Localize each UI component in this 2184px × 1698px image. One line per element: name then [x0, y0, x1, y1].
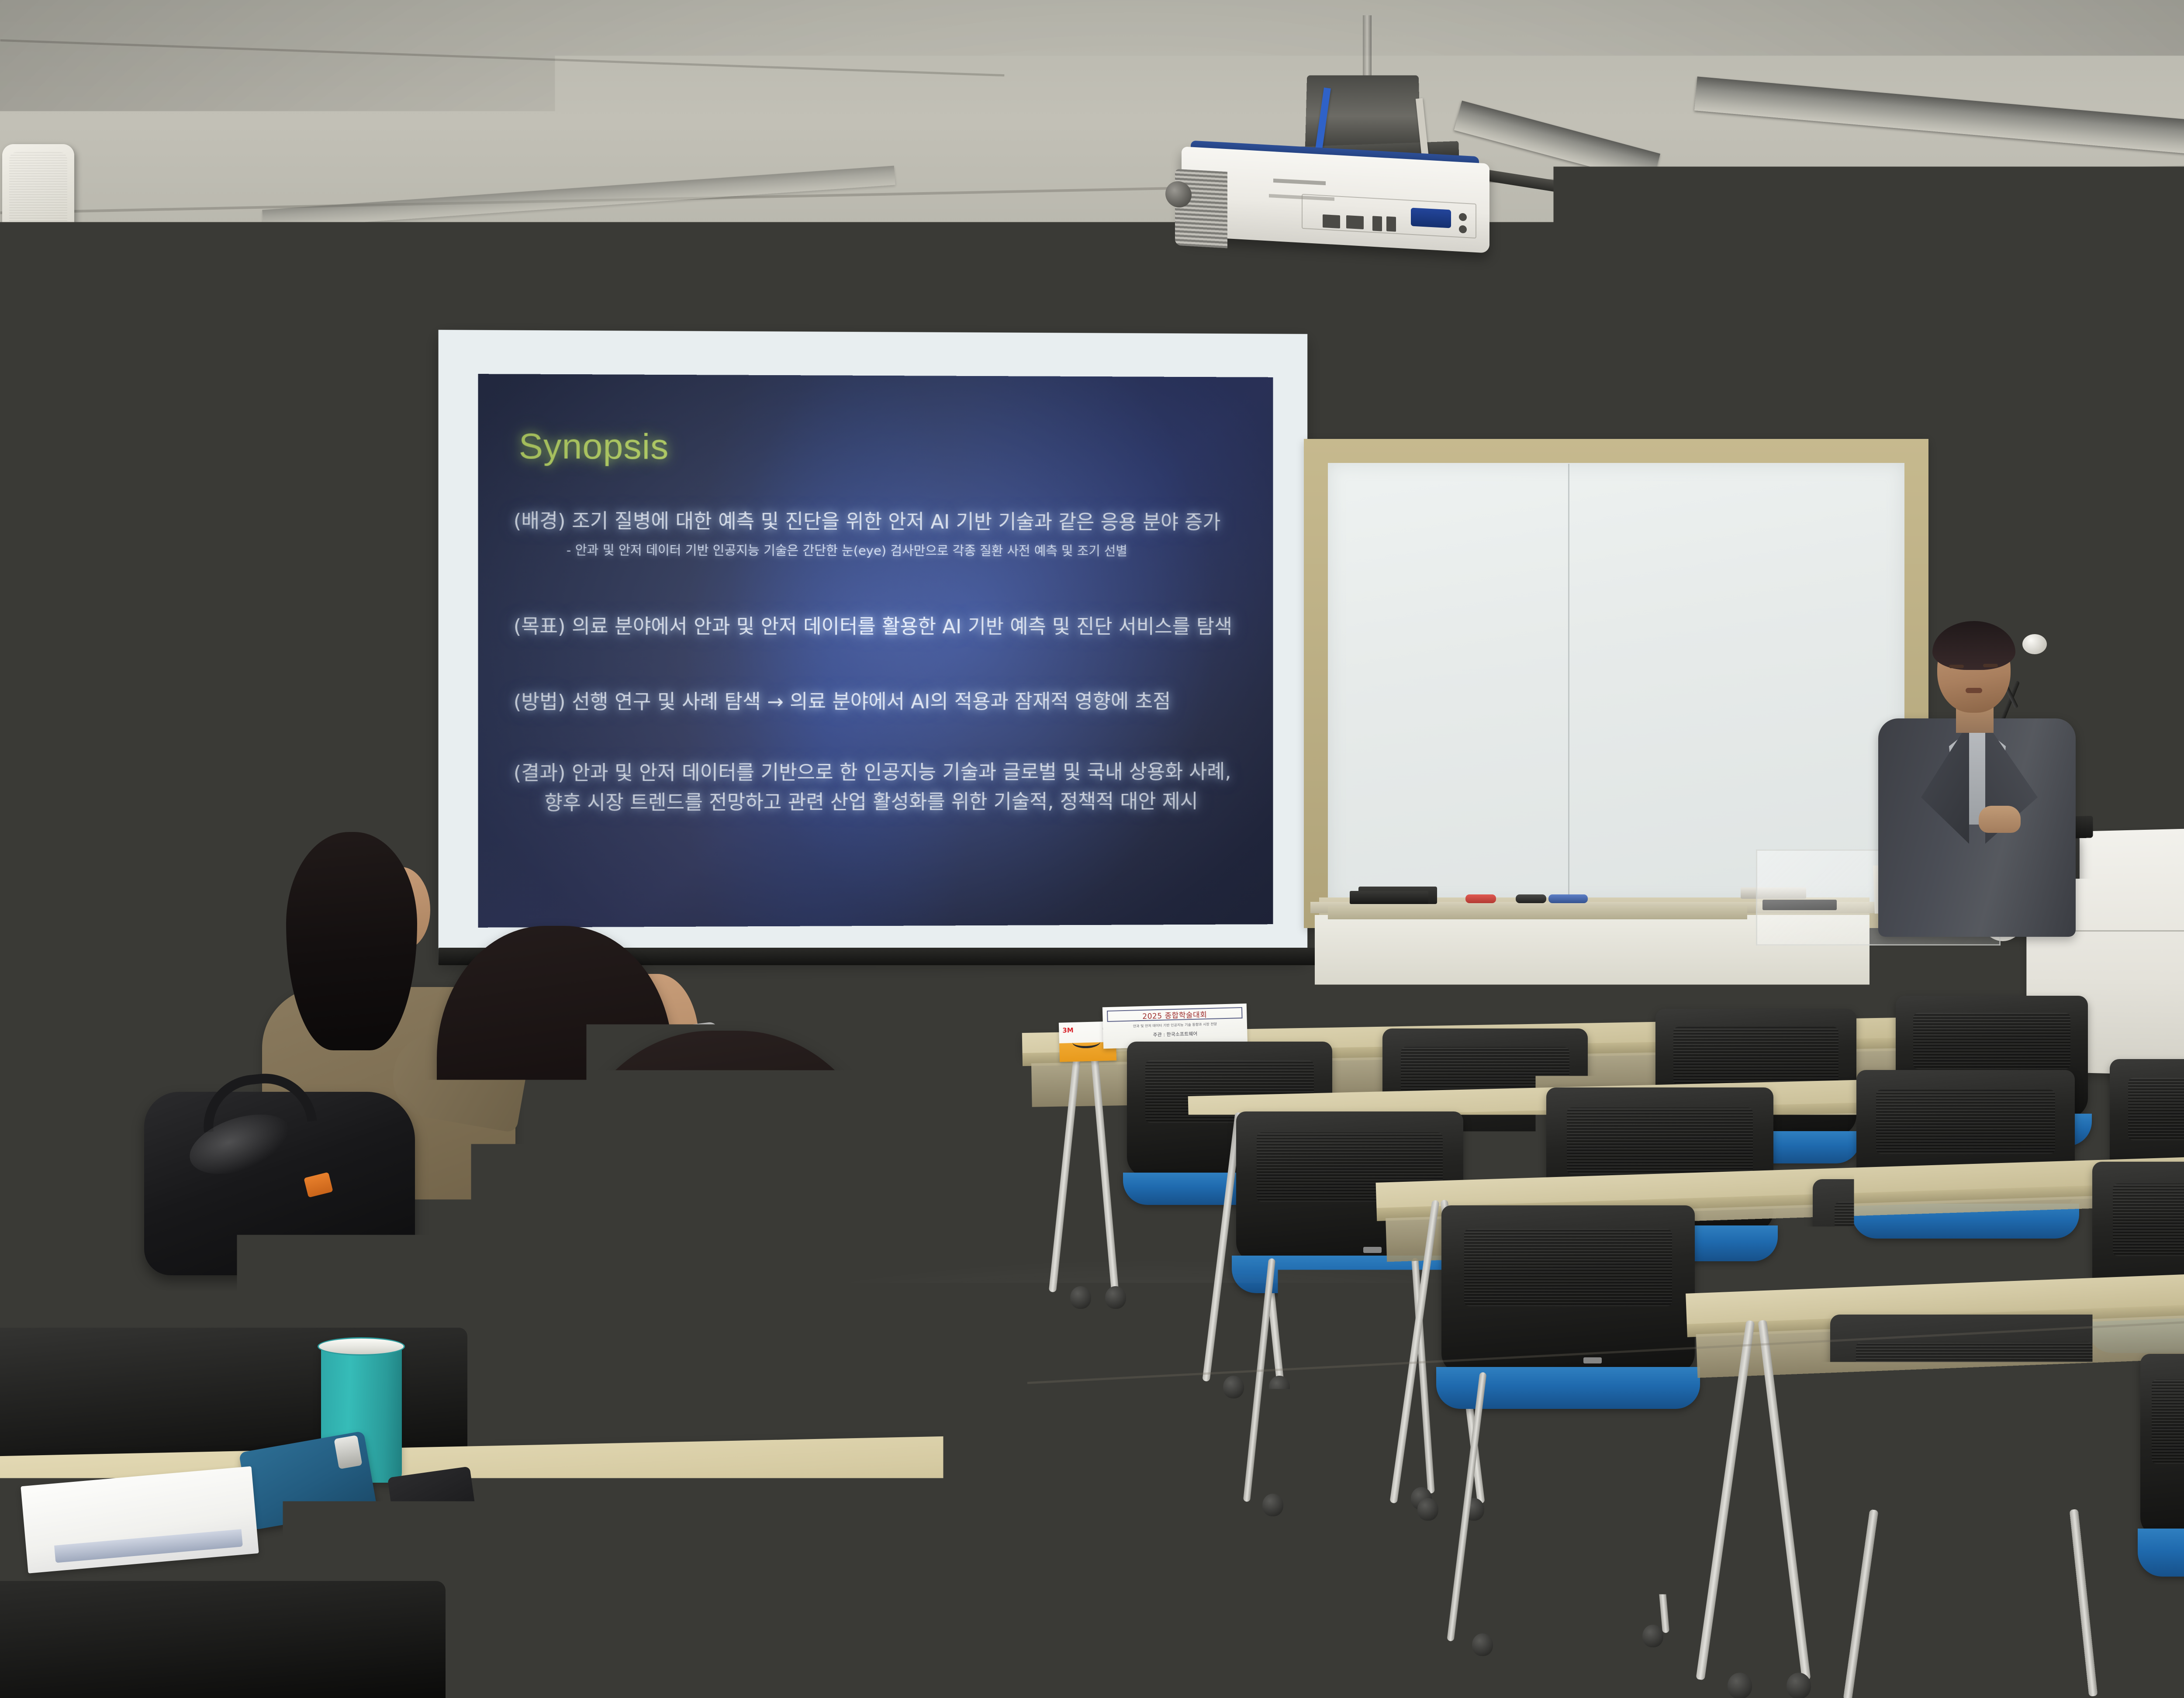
projector-audio-jack	[1459, 213, 1467, 221]
projected-slide: Synopsis (배경) 조기 질병에 대한 예측 및 진단을 위한 안저 A…	[478, 374, 1273, 928]
door-notice	[4, 744, 34, 797]
chair-brand-badge	[1363, 1247, 1382, 1253]
chair-mesh	[1876, 1090, 2055, 1154]
slide-bullet-result-line2: 향후 시장 트렌드를 전망하고 관련 산업 활성화를 위한 기술적, 정책적 대…	[544, 785, 1198, 815]
desk-sign-title: 2025 종합학술대회	[1107, 1007, 1243, 1022]
table-caster	[1787, 1673, 1811, 1698]
door-notice	[2, 925, 34, 983]
chair-mesh	[2128, 1078, 2184, 1140]
projector-vga-port	[1411, 208, 1451, 228]
wall-sensor	[262, 306, 280, 326]
projector-audio-jack	[1459, 225, 1467, 234]
foreground-chair-bottom[interactable]	[0, 1581, 446, 1698]
projector-usb-port	[1386, 216, 1396, 231]
blue-marker[interactable]	[1548, 894, 1588, 903]
presenter-eye-right	[1983, 664, 1998, 667]
slide-bullet-objective: (목표) 의료 분야에서 안과 및 안저 데이터를 활용한 AI 기반 예측 및…	[514, 610, 1232, 639]
black-marker[interactable]	[1516, 894, 1546, 903]
presenter-eye-left	[1949, 665, 1964, 668]
smartphone[interactable]	[387, 1466, 477, 1534]
chair-mesh	[1913, 1013, 2071, 1069]
door-hinge	[111, 666, 123, 709]
projector-vent	[1175, 169, 1227, 248]
chair[interactable]	[1830, 1315, 2118, 1511]
slide-bullet-method: (방법) 선행 연구 및 사례 탐색 → 의료 분야에서 AI의 적용과 잠재적…	[514, 686, 1171, 714]
paper-cup-rim	[318, 1337, 405, 1356]
chair-brand-badge	[1992, 1493, 2010, 1499]
chair-mesh	[2113, 1184, 2184, 1256]
microphone-head	[2022, 634, 2047, 654]
chair-seat	[2138, 1529, 2184, 1577]
speaker-brand-label	[28, 259, 54, 264]
ledge-remote[interactable]	[1350, 891, 1428, 904]
presenter-hand	[1979, 806, 2021, 833]
slide-bullet-result-line1: (결과) 안과 및 안저 데이터를 기반으로 한 인공지능 기술과 글로벌 및 …	[514, 756, 1231, 786]
ceiling	[0, 0, 2184, 306]
red-marker[interactable]	[1465, 894, 1496, 903]
speaker-grille	[9, 152, 67, 252]
chair-mesh	[2152, 1380, 2184, 1464]
slide-bullet-background: (배경) 조기 질병에 대한 예측 및 진단을 위한 안저 AI 기반 기술과 …	[514, 505, 1221, 535]
presenter-mouth	[1966, 688, 1982, 693]
slide-subbullet-background: - 안과 및 안저 데이터 기반 인공지능 기술은 간단한 눈(eye) 검사만…	[567, 540, 1127, 559]
brand-logo-3m: 3M	[1062, 1026, 1074, 1035]
lecture-room-scene: Synopsis (배경) 조기 질병에 대한 예측 및 진단을 위한 안저 A…	[0, 0, 2184, 1698]
desk-sign-organizer: 주관 : 한국소프트웨어	[1109, 1029, 1241, 1039]
chair-mesh	[1856, 1342, 2092, 1432]
slide-title: Synopsis	[519, 426, 669, 467]
equipment-ledge	[1328, 906, 1747, 919]
whiteboard-surface	[1328, 463, 1904, 904]
floor-reflection	[699, 1267, 1835, 1660]
chair-mesh	[1567, 1108, 1753, 1174]
chair-mesh	[1835, 1202, 2035, 1276]
smile-graphic	[1072, 1035, 1101, 1049]
projector-hdmi-port	[1323, 214, 1340, 228]
audience-hair	[286, 832, 417, 1050]
chair[interactable]	[2140, 1354, 2184, 1537]
door-hinge	[110, 552, 121, 595]
projector-usb-port	[1372, 216, 1382, 231]
wall-speaker	[2, 144, 74, 271]
table-caster	[1728, 1673, 1752, 1698]
door-notice	[7, 825, 35, 874]
chair-mesh	[1673, 1027, 1838, 1085]
projector-hdmi-port	[1346, 215, 1364, 229]
whiteboard-panel-seam	[1568, 464, 1569, 903]
